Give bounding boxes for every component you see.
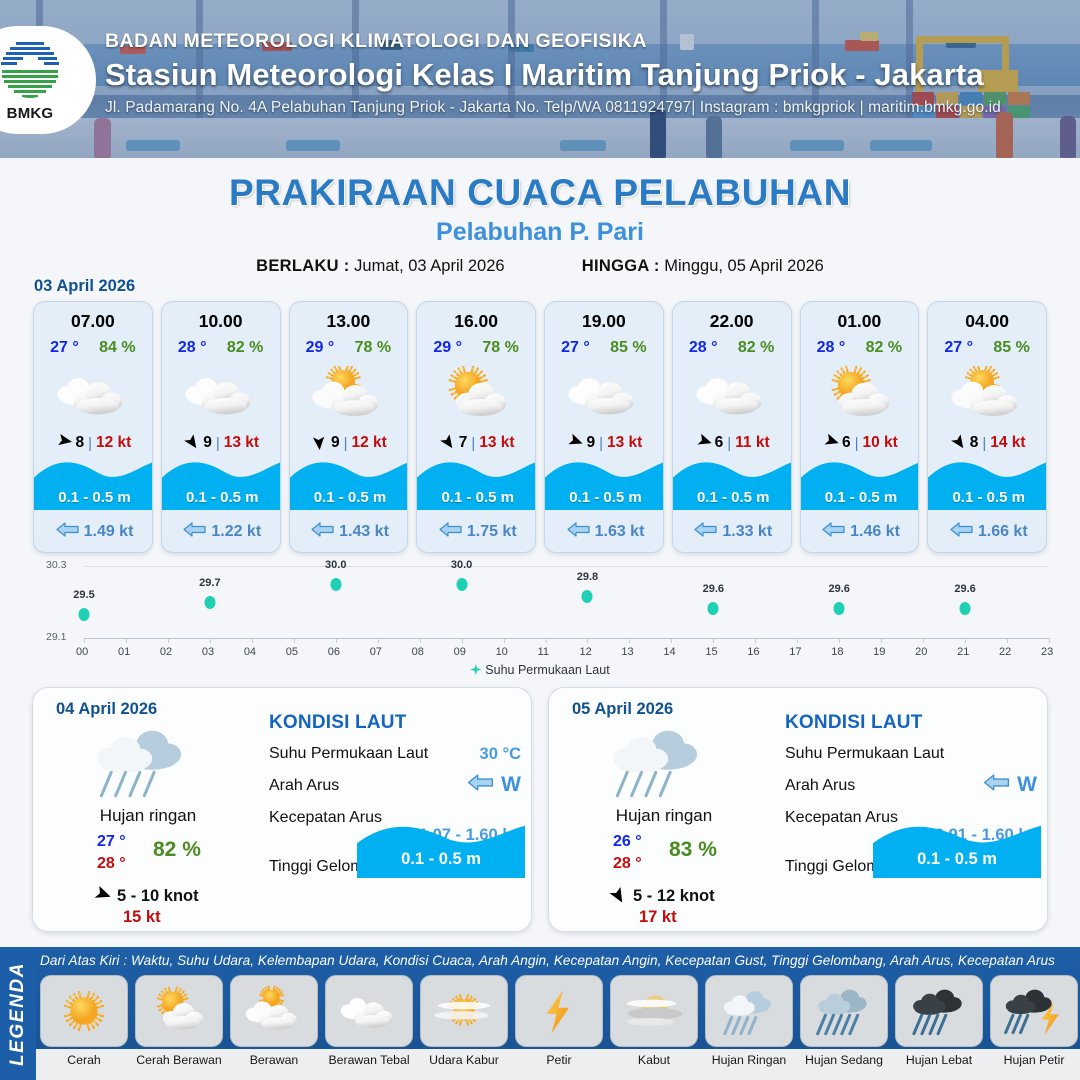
valid-from-value: Jumat, 03 April 2026	[354, 257, 504, 275]
chart-point-label: 30.0	[451, 559, 472, 571]
wind-separator: |	[982, 435, 986, 452]
current-direction-value: W	[501, 773, 521, 797]
chart-xtick-label: 12	[579, 646, 591, 658]
card-current-row: 1.33 kt	[673, 522, 792, 542]
chart-xtick-label: 11	[538, 646, 549, 658]
chart-xtick	[210, 638, 211, 643]
chart-xtick-label: 14	[663, 646, 675, 658]
card-wave-height: 0.1 - 0.5 m	[290, 489, 409, 506]
chart-xtick-label: 01	[118, 646, 130, 658]
hourly-forecast-cards: 07.00 27 ° 84 % 8 | 12 kt 0.1 - 0.5 m	[33, 301, 1047, 553]
card-humidity: 84 %	[99, 339, 135, 357]
daily-wind-row: 5 - 10 knot	[91, 884, 199, 908]
legend-item-label: Hujan Ringan	[705, 1053, 793, 1067]
card-time: 01.00	[801, 311, 919, 332]
wind-direction-arrow-icon	[565, 432, 582, 454]
hourly-card[interactable]: 13.00 29 ° 78 % 9 | 12 kt 0.1 - 0.5 m	[289, 301, 409, 553]
valid-until-label: HINGGA :	[582, 257, 660, 275]
hourly-card[interactable]: 07.00 27 ° 84 % 8 | 12 kt 0.1 - 0.5 m	[33, 301, 153, 553]
weather-hujan-ringan-icon	[87, 724, 197, 802]
legend-item	[800, 975, 888, 1047]
card-temperature: 27 °	[561, 339, 590, 357]
card-current-speed: 1.49 kt	[84, 523, 134, 541]
sst-legend-label: Suhu Permukaan Laut	[485, 663, 609, 677]
card-humidity: 82 %	[866, 339, 902, 357]
chart-data-point	[834, 602, 845, 615]
chart-xtick-label: 03	[202, 646, 214, 658]
weather-cerah-berawan-double-icon	[290, 363, 408, 425]
chart-xtick	[629, 638, 630, 643]
wind-direction-arrow-icon	[694, 432, 711, 454]
current-direction-arrow-icon	[439, 522, 462, 542]
legend-item-label: Udara Kabur	[420, 1053, 508, 1067]
current-direction-arrow-icon	[983, 773, 1010, 797]
legend-item-label: Cerah Berawan	[135, 1053, 223, 1067]
card-wind-speed: 11 kt	[735, 434, 769, 452]
current-direction-row: Arah Arus W	[785, 777, 1037, 798]
agency-name: BADAN METEOROLOGI KLIMATOLOGI DAN GEOFIS…	[105, 30, 1001, 53]
chart-point-label: 30.0	[325, 559, 346, 571]
wind-direction-arrow-icon	[607, 884, 626, 908]
chart-xtick	[881, 638, 882, 643]
card-wind-speed: 13 kt	[607, 434, 642, 452]
daily-date: 04 April 2026	[56, 700, 157, 719]
chart-ytick-top: 30.3	[46, 559, 66, 571]
current-direction-value-wrap: W	[467, 773, 521, 797]
chart-xtick	[1007, 638, 1008, 643]
current-direction-arrow-icon	[694, 522, 717, 542]
card-time: 07.00	[34, 311, 152, 332]
legend-item	[325, 975, 413, 1047]
weather-hujan-ringan-icon	[705, 975, 793, 1047]
daily-forecast-panel[interactable]: 04 April 2026 Hujan ringan 27 ° 28 ° 82 …	[32, 687, 532, 932]
legend-item	[990, 975, 1078, 1047]
chart-xtick-label: 21	[957, 646, 969, 658]
legend-note: Dari Atas Kiri : Waktu, Suhu Udara, Kele…	[40, 953, 1078, 968]
daily-wave-height-value: 0.1 - 0.5 m	[357, 850, 525, 869]
legend-item-label: Cerah	[40, 1053, 128, 1067]
wind-direction-arrow-icon	[821, 432, 838, 454]
validity-row: BERLAKU : Jumat, 03 April 2026 HINGGA : …	[0, 257, 1080, 276]
chart-point-label: 29.6	[954, 583, 975, 595]
hourly-card[interactable]: 16.00 29 ° 78 % 7 | 13 kt 0.1 - 0.5 m 1.…	[416, 301, 536, 553]
legend-item	[610, 975, 698, 1047]
card-wind-speed: 12 kt	[351, 434, 386, 452]
legend-item	[515, 975, 603, 1047]
card-wind-row: 6 | 10 kt	[801, 433, 919, 453]
chart-data-point	[582, 590, 593, 603]
sea-conditions-block: KONDISI LAUT Suhu Permukaan Laut 30 °C A…	[269, 712, 521, 879]
card-current-speed: 1.46 kt	[850, 523, 900, 541]
chart-xtick	[252, 638, 253, 643]
card-wind-row: 9 | 13 kt	[162, 433, 280, 453]
wind-separator: |	[599, 435, 603, 452]
weather-hujan-sedang-icon	[800, 975, 888, 1047]
card-humidity: 82 %	[227, 339, 263, 357]
bmkg-logo-text: BMKG	[0, 105, 67, 122]
current-direction-value: W	[1017, 773, 1037, 797]
daily-temp-min: 26 °	[613, 833, 642, 851]
daily-date: 05 April 2026	[572, 700, 673, 719]
chart-point-label: 29.6	[828, 583, 849, 595]
legend-item	[420, 975, 508, 1047]
chart-xtick	[504, 638, 505, 643]
card-wave-height: 0.1 - 0.5 m	[673, 489, 792, 506]
current-direction-arrow-icon	[56, 522, 79, 542]
current-direction-row: Arah Arus W	[269, 777, 521, 798]
card-wave-height: 0.1 - 0.5 m	[801, 489, 920, 506]
legend-icon-list	[40, 975, 1080, 1047]
daily-wind-row: 5 - 12 knot	[607, 884, 715, 908]
daily-wind-range: 5 - 10 knot	[117, 887, 199, 906]
wind-separator: |	[727, 435, 731, 452]
wind-direction-arrow-icon	[182, 432, 199, 454]
wind-separator: |	[471, 435, 475, 452]
chart-data-point	[456, 578, 467, 591]
legend-label-list: CerahCerah BerawanBerawanBerawan TebalUd…	[40, 1053, 1080, 1067]
card-humidity: 78 %	[355, 339, 391, 357]
chart-xtick	[546, 638, 547, 643]
chart-xtick-label: 00	[76, 646, 88, 658]
card-time: 04.00	[928, 311, 1046, 332]
sst-value: 30 °C	[480, 745, 521, 764]
legend-item	[705, 975, 793, 1047]
chart-xtick-label: 18	[831, 646, 843, 658]
daily-temp-max: 28 °	[97, 855, 126, 873]
chart-xtick	[420, 638, 421, 643]
card-temperature: 28 °	[689, 339, 718, 357]
weather-berawan-icon	[230, 975, 318, 1047]
legend-item	[40, 975, 128, 1047]
card-current-speed: 1.66 kt	[978, 523, 1028, 541]
weather-udara-kabur-icon	[420, 975, 508, 1047]
daily-forecast-panels: 04 April 2026 Hujan ringan 27 ° 28 ° 82 …	[32, 687, 1048, 932]
card-current-row: 1.43 kt	[290, 522, 409, 542]
wind-direction-arrow-icon	[949, 432, 966, 454]
chart-xtick-label: 23	[1041, 646, 1053, 658]
wind-direction-arrow-icon	[91, 884, 110, 908]
chart-xtick	[587, 638, 588, 643]
sea-conditions-title: KONDISI LAUT	[269, 712, 521, 734]
chart-gridline-top	[84, 566, 1049, 567]
current-direction-arrow-icon	[822, 522, 845, 542]
wind-direction-arrow-icon	[310, 432, 327, 454]
card-wind-speed: 12 kt	[96, 434, 131, 452]
current-direction-label: Arah Arus	[269, 777, 339, 794]
legend-item-label: Berawan Tebal	[325, 1053, 413, 1067]
chart-xtick	[378, 638, 379, 643]
chart-xtick-label: 15	[705, 646, 717, 658]
weather-cerah-berawan-double-icon	[928, 363, 1046, 425]
weather-cerah-berawan-icon	[135, 975, 223, 1047]
legend-item-label: Hujan Sedang	[800, 1053, 888, 1067]
chart-data-point	[960, 602, 971, 615]
daily-condition: Hujan ringan	[549, 806, 779, 826]
chart-xtick-label: 10	[496, 646, 508, 658]
weather-cerah-icon	[40, 975, 128, 1047]
chart-ytick-bottom: 29.1	[46, 631, 66, 643]
card-temperature: 29 °	[433, 339, 462, 357]
daily-temp-max: 28 °	[613, 855, 642, 873]
legend-item-label: Kabut	[610, 1053, 698, 1067]
chart-point-label: 29.6	[703, 583, 724, 595]
card-current-row: 1.63 kt	[545, 522, 664, 542]
card-humidity: 82 %	[738, 339, 774, 357]
hourly-card[interactable]: 22.00 28 ° 82 % 6 | 11 kt 0.1 - 0.5 m	[672, 301, 792, 553]
chart-xtick-label: 08	[412, 646, 424, 658]
chart-xtick	[462, 638, 463, 643]
card-wind-row: 9 | 12 kt	[290, 433, 408, 453]
chart-data-point	[204, 596, 215, 609]
chart-xtick	[336, 638, 337, 643]
legend-side-label: LEGENDA	[0, 947, 36, 1080]
chart-xtick-label: 19	[873, 646, 885, 658]
chart-xtick	[294, 638, 295, 643]
chart-xtick-label: 13	[621, 646, 633, 658]
chart-xtick-label: 17	[789, 646, 801, 658]
card-time: 10.00	[162, 311, 280, 332]
chart-xtick	[839, 638, 840, 643]
chart-xtick	[965, 638, 966, 643]
daily-humidity: 82 %	[153, 838, 201, 862]
legend-item-label: Hujan Lebat	[895, 1053, 983, 1067]
sst-chart-plot: 30.329.100010203040506070809101112131415…	[84, 566, 1049, 638]
current-direction-arrow-icon	[950, 522, 973, 542]
card-wind-speed: 10 kt	[862, 434, 897, 452]
hourly-date-label: 03 April 2026	[34, 277, 135, 296]
chart-xtick-label: 07	[370, 646, 382, 658]
daily-gust-speed: 17 kt	[639, 908, 677, 927]
card-temperature: 28 °	[817, 339, 846, 357]
hourly-card[interactable]: 01.00 28 ° 82 % 6 | 10 kt 0.1 - 0.5 m 1.…	[800, 301, 920, 553]
chart-point-label: 29.5	[73, 589, 94, 601]
sst-row: Suhu Permukaan Laut 30 °C	[269, 745, 521, 766]
chart-xtick	[168, 638, 169, 643]
current-direction-value-wrap: W	[983, 773, 1037, 797]
sea-conditions-block: KONDISI LAUT Suhu Permukaan Laut Arah Ar…	[785, 712, 1037, 879]
daily-humidity: 83 %	[669, 838, 717, 862]
chart-axis-line	[84, 638, 1049, 639]
wave-band-icon	[873, 820, 1041, 878]
legend-item	[895, 975, 983, 1047]
card-temperature: 29 °	[306, 339, 335, 357]
daily-forecast-panel[interactable]: 05 April 2026 Hujan ringan 26 ° 28 ° 83 …	[548, 687, 1048, 932]
chart-xtick	[671, 638, 672, 643]
card-wind-row: 6 | 11 kt	[673, 433, 791, 453]
card-humidity: 85 %	[993, 339, 1029, 357]
card-wave-height: 0.1 - 0.5 m	[417, 489, 536, 506]
card-wind-direction: 9	[331, 434, 340, 452]
weather-berawan-tebal-icon	[325, 975, 413, 1047]
chart-point-label: 29.7	[199, 577, 220, 589]
legend-item	[230, 975, 318, 1047]
card-current-speed: 1.43 kt	[339, 523, 389, 541]
card-humidity: 78 %	[482, 339, 518, 357]
daily-wind-range: 5 - 12 knot	[633, 887, 715, 906]
wind-separator: |	[855, 435, 859, 452]
weather-berawan-tebal-icon	[545, 363, 663, 425]
daily-temp-min: 27 °	[97, 833, 126, 851]
card-current-speed: 1.63 kt	[595, 523, 645, 541]
card-temperature: 27 °	[944, 339, 973, 357]
card-wind-row: 9 | 13 kt	[545, 433, 663, 453]
hourly-card[interactable]: 04.00 27 ° 85 % 8 | 14 kt 0.1 - 0.5 m	[927, 301, 1047, 553]
sst-row: Suhu Permukaan Laut	[785, 745, 1037, 766]
card-wind-row: 8 | 14 kt	[928, 433, 1046, 453]
chart-xtick-label: 22	[999, 646, 1011, 658]
wave-band-icon	[357, 820, 525, 878]
chart-data-point	[708, 602, 719, 615]
chart-xtick	[713, 638, 714, 643]
chart-xtick	[923, 638, 924, 643]
card-wind-direction: 8	[970, 434, 979, 452]
current-direction-arrow-icon	[183, 522, 206, 542]
weather-petir-icon	[515, 975, 603, 1047]
chart-xtick	[797, 638, 798, 643]
chart-xtick	[1049, 638, 1050, 643]
card-current-row: 1.49 kt	[34, 522, 153, 542]
hourly-card[interactable]: 19.00 27 ° 85 % 9 | 13 kt 0.1 - 0.5 m	[544, 301, 664, 553]
chart-xtick	[126, 638, 127, 643]
valid-until-value: Minggu, 05 April 2026	[664, 257, 824, 275]
wind-separator: |	[344, 435, 348, 452]
card-wind-speed: 13 kt	[224, 434, 259, 452]
legend-item-label: Hujan Petir	[990, 1053, 1078, 1067]
card-temperature: 28 °	[178, 339, 207, 357]
chart-xtick	[84, 638, 85, 643]
chart-point-label: 29.8	[577, 571, 598, 583]
card-time: 16.00	[417, 311, 535, 332]
card-wave-height: 0.1 - 0.5 m	[545, 489, 664, 506]
daily-condition: Hujan ringan	[33, 806, 263, 826]
weather-hujan-ringan-icon	[603, 724, 713, 802]
card-wind-direction: 8	[75, 434, 84, 452]
chart-xtick-label: 06	[328, 646, 340, 658]
chart-xtick-label: 05	[286, 646, 298, 658]
card-wind-speed: 13 kt	[479, 434, 514, 452]
daily-gust-speed: 15 kt	[123, 908, 161, 927]
sst-label: Suhu Permukaan Laut	[785, 745, 944, 762]
daily-wave-height-value: 0.1 - 0.5 m	[873, 850, 1041, 869]
valid-from-label: BERLAKU :	[256, 257, 349, 275]
card-temperature: 27 °	[50, 339, 79, 357]
card-wind-direction: 7	[459, 434, 468, 452]
weather-berawan-tebal-icon	[673, 363, 791, 425]
current-direction-arrow-icon	[467, 773, 494, 797]
card-current-speed: 1.22 kt	[211, 523, 261, 541]
bmkg-logo-circle	[0, 38, 60, 98]
weather-berawan-tebal-icon	[34, 363, 152, 425]
wind-direction-arrow-icon	[54, 432, 71, 454]
card-wind-speed: 14 kt	[990, 434, 1025, 452]
card-current-row: 1.75 kt	[417, 522, 536, 542]
station-name: Stasiun Meteorologi Kelas I Maritim Tanj…	[105, 57, 1001, 93]
card-time: 22.00	[673, 311, 791, 332]
page-title: PRAKIRAAN CUACA PELABUHAN	[0, 172, 1080, 214]
station-address: Jl. Padamarang No. 4A Pelabuhan Tanjung …	[105, 99, 1001, 117]
card-current-speed: 1.33 kt	[722, 523, 772, 541]
card-current-row: 1.46 kt	[801, 522, 920, 542]
card-wave-height: 0.1 - 0.5 m	[162, 489, 281, 506]
current-direction-arrow-icon	[567, 522, 590, 542]
card-time: 13.00	[290, 311, 408, 332]
header-banner: BMKG BADAN METEOROLOGI KLIMATOLOGI DAN G…	[0, 0, 1080, 158]
card-wind-direction: 9	[203, 434, 212, 452]
chart-xtick-label: 02	[160, 646, 172, 658]
weather-berawan-tebal-icon	[162, 363, 280, 425]
chart-xtick-label: 20	[915, 646, 927, 658]
legend-item	[135, 975, 223, 1047]
weather-hujan-petir-icon	[990, 975, 1078, 1047]
wind-separator: |	[216, 435, 220, 452]
card-wind-row: 7 | 13 kt	[417, 433, 535, 453]
chart-data-point	[79, 608, 90, 621]
sst-label: Suhu Permukaan Laut	[269, 745, 428, 762]
chart-xtick-label: 16	[747, 646, 759, 658]
card-current-row: 1.66 kt	[928, 522, 1047, 542]
page-subtitle: Pelabuhan P. Pari	[0, 218, 1080, 247]
chart-xtick-label: 04	[244, 646, 256, 658]
current-direction-arrow-icon	[311, 522, 334, 542]
page-title-block: PRAKIRAAN CUACA PELABUHAN Pelabuhan P. P…	[0, 172, 1080, 276]
card-wind-direction: 6	[715, 434, 724, 452]
sst-legend-marker-icon	[470, 664, 481, 675]
legend-item-label: Berawan	[230, 1053, 318, 1067]
card-time: 19.00	[545, 311, 663, 332]
card-wind-direction: 6	[842, 434, 851, 452]
wind-direction-arrow-icon	[438, 432, 455, 454]
card-wind-direction: 9	[586, 434, 595, 452]
card-current-speed: 1.75 kt	[467, 523, 517, 541]
card-humidity: 85 %	[610, 339, 646, 357]
card-current-row: 1.22 kt	[162, 522, 281, 542]
hourly-card[interactable]: 10.00 28 ° 82 % 9 | 13 kt 0.1 - 0.5 m	[161, 301, 281, 553]
card-wave-height: 0.1 - 0.5 m	[34, 489, 153, 506]
legend-item-label: Petir	[515, 1053, 603, 1067]
card-wind-row: 8 | 12 kt	[34, 433, 152, 453]
wind-separator: |	[88, 435, 92, 452]
weather-hujan-lebat-icon	[895, 975, 983, 1047]
sst-chart: 30.329.100010203040506070809101112131415…	[22, 560, 1058, 680]
card-wave-height: 0.1 - 0.5 m	[928, 489, 1047, 506]
sst-chart-legend: Suhu Permukaan Laut	[22, 663, 1058, 677]
sea-conditions-title: KONDISI LAUT	[785, 712, 1037, 734]
current-direction-label: Arah Arus	[785, 777, 855, 794]
chart-xtick-label: 09	[454, 646, 466, 658]
chart-data-point	[330, 578, 341, 591]
weather-kabut-icon	[610, 975, 698, 1047]
weather-cerah-berawan-icon	[801, 363, 919, 425]
chart-xtick	[755, 638, 756, 643]
weather-cerah-berawan-icon	[417, 363, 535, 425]
